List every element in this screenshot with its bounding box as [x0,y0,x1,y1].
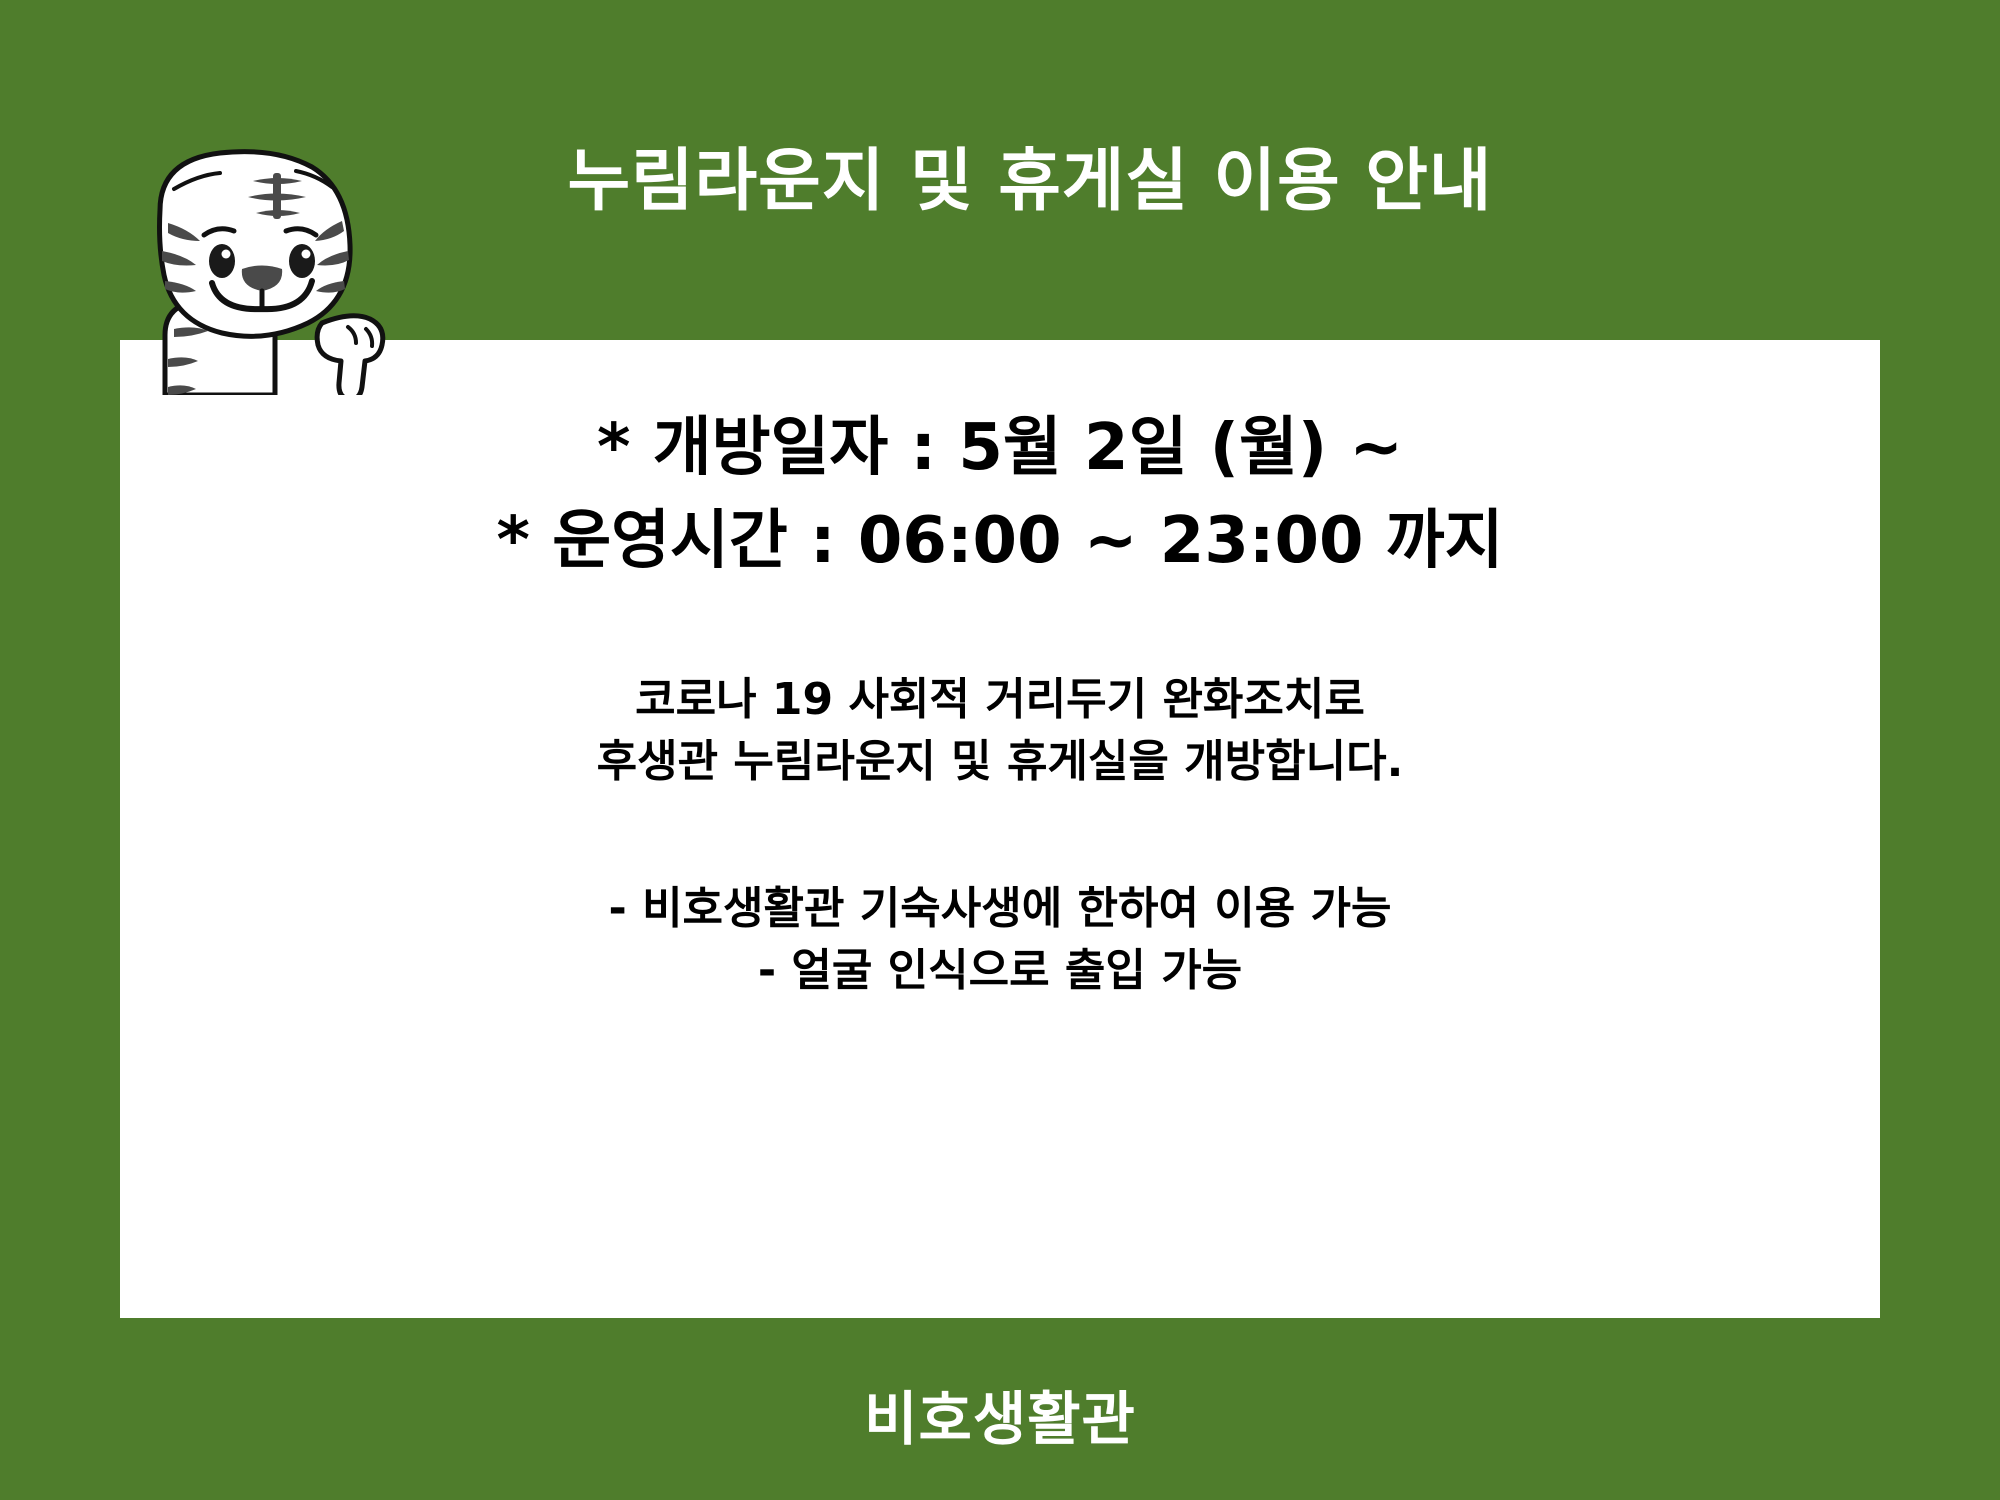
announcement-line-2: 후생관 누림라운지 및 휴게실을 개방합니다. [120,731,1880,793]
operating-hours-line: * 운영시간 : 06:00 ~ 23:00 까지 [120,495,1880,588]
notice-card: * 개방일자 : 5월 2일 (월) ~ * 운영시간 : 06:00 ~ 23… [120,340,1880,1318]
note-residents-only: - 비호생활관 기숙사생에 한하여 이용 가능 [120,878,1880,940]
announcement-line-1: 코로나 19 사회적 거리두기 완화조치로 [120,669,1880,731]
dormitory-name-footer: 비호생활관 [0,1372,2000,1456]
schedule-block: * 개방일자 : 5월 2일 (월) ~ * 운영시간 : 06:00 ~ 23… [120,402,1880,589]
white-tiger-mascot [70,105,390,395]
note-face-recognition: - 얼굴 인식으로 출입 가능 [120,940,1880,1002]
open-date-line: * 개방일자 : 5월 2일 (월) ~ [120,402,1880,495]
announcement-block: 코로나 19 사회적 거리두기 완화조치로 후생관 누림라운지 및 휴게실을 개… [120,669,1880,794]
notice-card-content: * 개방일자 : 5월 2일 (월) ~ * 운영시간 : 06:00 ~ 23… [120,340,1880,1003]
notes-block: - 비호생활관 기숙사생에 한하여 이용 가능 - 얼굴 인식으로 출입 가능 [120,878,1880,1003]
